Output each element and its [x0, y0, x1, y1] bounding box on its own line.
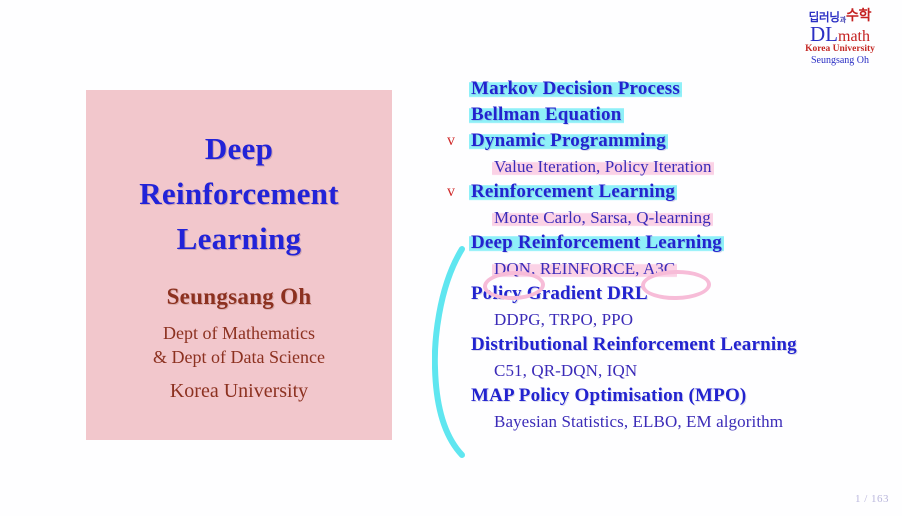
slide-canvas: 딥러닝과수학 DLmath Korea University Seungsang…: [0, 0, 902, 516]
dlmath-logo: 딥러닝과수학 DLmath Korea University Seungsang…: [784, 10, 896, 66]
author-name: Seungsang Oh: [86, 284, 392, 310]
toc-text-highlighted: Value Iteration, Policy Iteration: [492, 157, 714, 176]
author-affiliation: Dept of Mathematics & Dept of Data Scien…: [86, 321, 392, 369]
toc-subitem-label[interactable]: DQN, REINFORCE, A3C: [492, 259, 677, 279]
toc-text-highlighted: Dynamic Programming: [469, 130, 668, 151]
title-line-1: Deep: [86, 126, 392, 171]
toc-heading-row[interactable]: Distributional Reinforcement Learning: [443, 334, 883, 360]
title-line-3: Learning: [86, 216, 392, 261]
logo-korean-red: 수학: [846, 9, 871, 24]
title-line-2: Reinforcement: [86, 171, 392, 216]
toc-text-highlighted: DQN, REINFORCE, A3C: [492, 259, 677, 278]
toc-text: Distributional Reinforcement Learning: [469, 334, 799, 355]
logo-math-text: math: [838, 28, 870, 45]
toc-heading-row[interactable]: Policy Gradient DRL: [443, 283, 883, 309]
toc-text: Policy Gradient DRL: [469, 283, 650, 304]
toc-heading-label[interactable]: Markov Decision Process: [469, 78, 682, 100]
toc-subitem-label[interactable]: Value Iteration, Policy Iteration: [492, 157, 714, 177]
toc-text-highlighted: Markov Decision Process: [469, 78, 682, 99]
toc-text-highlighted: Monte Carlo, Sarsa, Q-learning: [492, 208, 713, 227]
toc-heading-row[interactable]: Markov Decision Process: [443, 78, 883, 104]
toc-heading-label[interactable]: Distributional Reinforcement Learning: [469, 334, 799, 356]
toc-heading-row[interactable]: vDynamic Programming: [443, 130, 883, 156]
logo-dl-text: DL: [810, 22, 838, 46]
logo-person: Seungsang Oh: [784, 56, 896, 66]
toc-text: C51, QR-DQN, IQN: [492, 361, 639, 380]
toc-heading-label[interactable]: Reinforcement Learning: [469, 181, 677, 203]
toc-subitem-label[interactable]: DDPG, TRPO, PPO: [492, 310, 635, 330]
toc-heading-label[interactable]: Deep Reinforcement Learning: [469, 232, 724, 254]
title-panel: Deep Reinforcement Learning Seungsang Oh…: [86, 90, 392, 440]
toc-text-highlighted: Deep Reinforcement Learning: [469, 232, 724, 253]
toc-heading-row[interactable]: MAP Policy Optimisation (MPO): [443, 385, 883, 411]
toc-text: MAP Policy Optimisation (MPO): [469, 385, 748, 406]
toc-subitem-row[interactable]: Bayesian Statistics, ELBO, EM algorithm: [443, 411, 883, 436]
toc-subitem-row[interactable]: C51, QR-DQN, IQN: [443, 360, 883, 385]
toc-subitem-label[interactable]: Bayesian Statistics, ELBO, EM algorithm: [492, 412, 785, 432]
logo-korean-line: 딥러닝과수학: [784, 10, 896, 23]
affiliation-line-2: & Dept of Data Science: [86, 345, 392, 369]
toc-subitem-row[interactable]: DDPG, TRPO, PPO: [443, 309, 883, 334]
author-university: Korea University: [86, 380, 392, 403]
toc-subitem-row[interactable]: Value Iteration, Policy Iteration: [443, 156, 883, 181]
logo-dlmath-line: DLmath: [784, 24, 896, 43]
toc-text: Bayesian Statistics, ELBO, EM algorithm: [492, 412, 785, 431]
toc-text: DDPG, TRPO, PPO: [492, 310, 635, 329]
toc-subitem-label[interactable]: Monte Carlo, Sarsa, Q-learning: [492, 208, 713, 228]
table-of-contents: Markov Decision ProcessBellman Equationv…: [443, 78, 883, 436]
toc-text-highlighted: Reinforcement Learning: [469, 181, 677, 202]
toc-subitem-row[interactable]: DQN, REINFORCE, A3C: [443, 258, 883, 283]
logo-university: Korea University: [784, 45, 896, 55]
toc-subitem-row[interactable]: Monte Carlo, Sarsa, Q-learning: [443, 207, 883, 232]
toc-subitem-label[interactable]: C51, QR-DQN, IQN: [492, 361, 639, 381]
toc-text-highlighted: Bellman Equation: [469, 104, 624, 125]
toc-heading-label[interactable]: Policy Gradient DRL: [469, 283, 650, 305]
check-mark-icon: v: [447, 132, 455, 150]
affiliation-line-1: Dept of Mathematics: [86, 321, 392, 345]
toc-heading-label[interactable]: MAP Policy Optimisation (MPO): [469, 385, 748, 407]
toc-heading-label[interactable]: Bellman Equation: [469, 104, 624, 126]
page-title: Deep Reinforcement Learning: [86, 90, 392, 261]
page-number: 1 / 163: [855, 493, 889, 505]
toc-heading-row[interactable]: Bellman Equation: [443, 104, 883, 130]
toc-heading-label[interactable]: Dynamic Programming: [469, 130, 668, 152]
check-mark-icon: v: [447, 183, 455, 201]
logo-korean-blue: 딥러닝: [809, 12, 840, 24]
toc-heading-row[interactable]: vReinforcement Learning: [443, 181, 883, 207]
toc-heading-row[interactable]: Deep Reinforcement Learning: [443, 232, 883, 258]
